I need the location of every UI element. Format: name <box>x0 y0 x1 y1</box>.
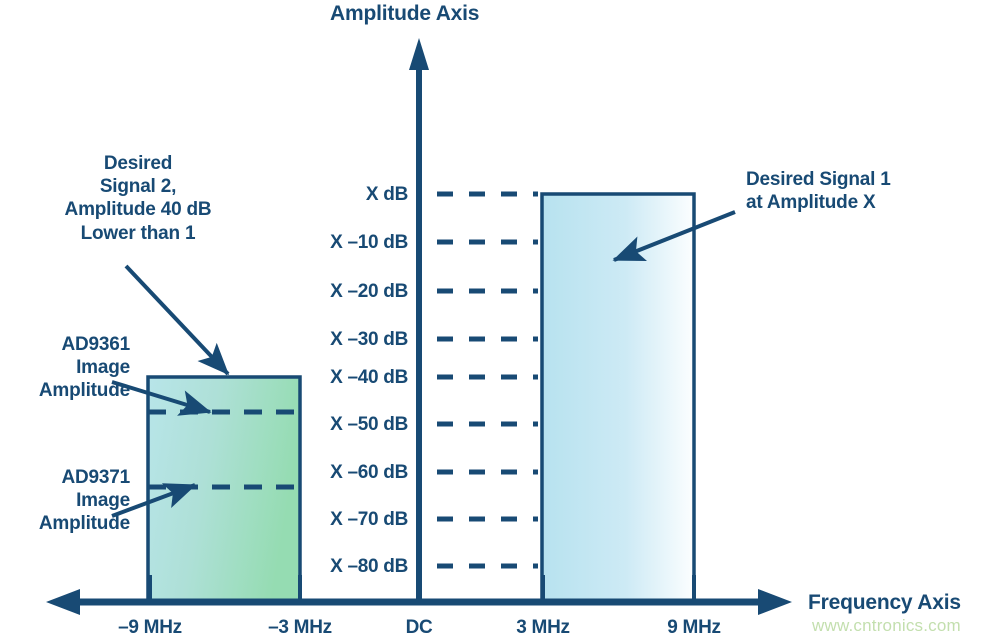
x-tick-label-0: –9 MHz <box>80 616 220 639</box>
annotation-desired-signal-1: Desired Signal 1 at Amplitude X <box>746 168 986 214</box>
annotation-ad9371-image-amplitude: AD9371 Image Amplitude <box>0 466 130 536</box>
y-tick-label-4: X –40 dB <box>248 366 408 389</box>
x-tick-label-2: DC <box>349 616 489 639</box>
signal-spectrum-diagram <box>0 0 991 644</box>
y-tick-label-0: X dB <box>248 183 408 206</box>
amplitude-axis <box>409 38 429 601</box>
y-tick-label-1: X –10 dB <box>248 231 408 254</box>
y-tick-label-2: X –20 dB <box>248 280 408 303</box>
bar-desired-signal-1 <box>542 194 694 601</box>
y-tick-label-7: X –70 dB <box>248 508 408 531</box>
y-tick-label-3: X –30 dB <box>248 328 408 351</box>
amplitude-axis-title: Amplitude Axis <box>330 1 479 27</box>
figure-canvas: Amplitude Axis Frequency Axis www.cntron… <box>0 0 991 644</box>
x-tick-label-3: 3 MHz <box>473 616 613 639</box>
gridlines <box>437 194 538 566</box>
annotation-desired-signal-2: Desired Signal 2, Amplitude 40 dB Lower … <box>33 152 243 245</box>
annotation-ad9361-image-amplitude: AD9361 Image Amplitude <box>0 333 130 403</box>
y-tick-label-6: X –60 dB <box>248 461 408 484</box>
watermark: www.cntronics.com <box>812 616 961 636</box>
leader-desired-signal-2 <box>126 266 228 374</box>
frequency-axis-title: Frequency Axis <box>808 590 961 616</box>
y-tick-label-8: X –80 dB <box>248 555 408 578</box>
x-tick-label-4: 9 MHz <box>624 616 764 639</box>
y-tick-label-5: X –50 dB <box>248 413 408 436</box>
